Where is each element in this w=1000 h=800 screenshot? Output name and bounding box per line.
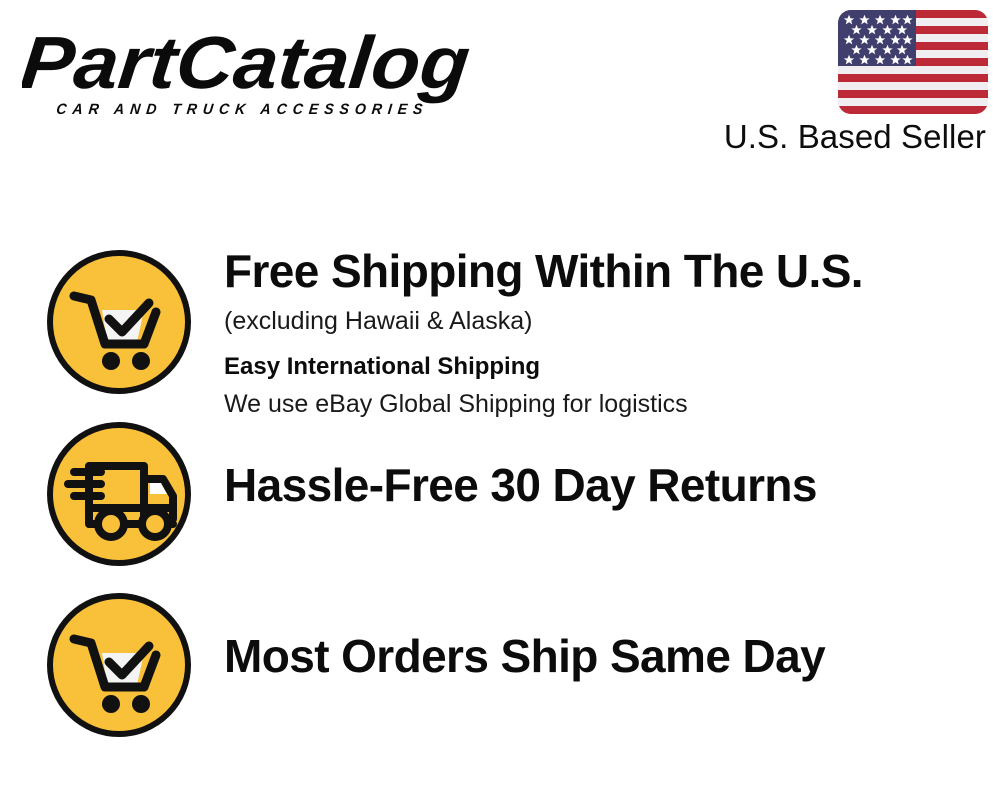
feature-subnote: We use eBay Global Shipping for logistic…	[224, 389, 1000, 419]
speed-lines	[68, 472, 101, 496]
feature-text-block: Hassle-Free 30 Day Returns	[224, 420, 1000, 508]
us-flag-icon	[838, 10, 988, 114]
feature-title: Most Orders Ship Same Day	[224, 633, 1000, 679]
feature-title: Hassle-Free 30 Day Returns	[224, 462, 1000, 508]
promo-banner: PartCatalog CAR AND TRUCK ACCESSORIES	[0, 0, 1000, 800]
feature-subtitle: Easy International Shipping	[224, 353, 1000, 382]
feature-text-block: Free Shipping Within The U.S. (excluding…	[224, 248, 1000, 419]
feature-row: Hassle-Free 30 Day Returns	[0, 420, 1000, 568]
delivery-truck-icon	[45, 420, 193, 568]
feature-row: Free Shipping Within The U.S. (excluding…	[0, 248, 1000, 419]
shopping-cart-check-icon	[45, 591, 193, 739]
feature-note: (excluding Hawaii & Alaska)	[224, 306, 1000, 337]
us-based-seller-label: U.S. Based Seller	[466, 118, 986, 156]
feature-title: Free Shipping Within The U.S.	[224, 248, 1000, 294]
shopping-cart-check-icon	[45, 248, 193, 396]
logo-tagline: CAR AND TRUCK ACCESSORIES	[55, 101, 429, 118]
feature-text-block: Most Orders Ship Same Day	[224, 591, 1000, 679]
feature-row: Most Orders Ship Same Day	[0, 591, 1000, 739]
logo-wordmark: PartCatalog	[22, 21, 474, 104]
partcatalog-logo: PartCatalog CAR AND TRUCK ACCESSORIES	[22, 18, 492, 118]
